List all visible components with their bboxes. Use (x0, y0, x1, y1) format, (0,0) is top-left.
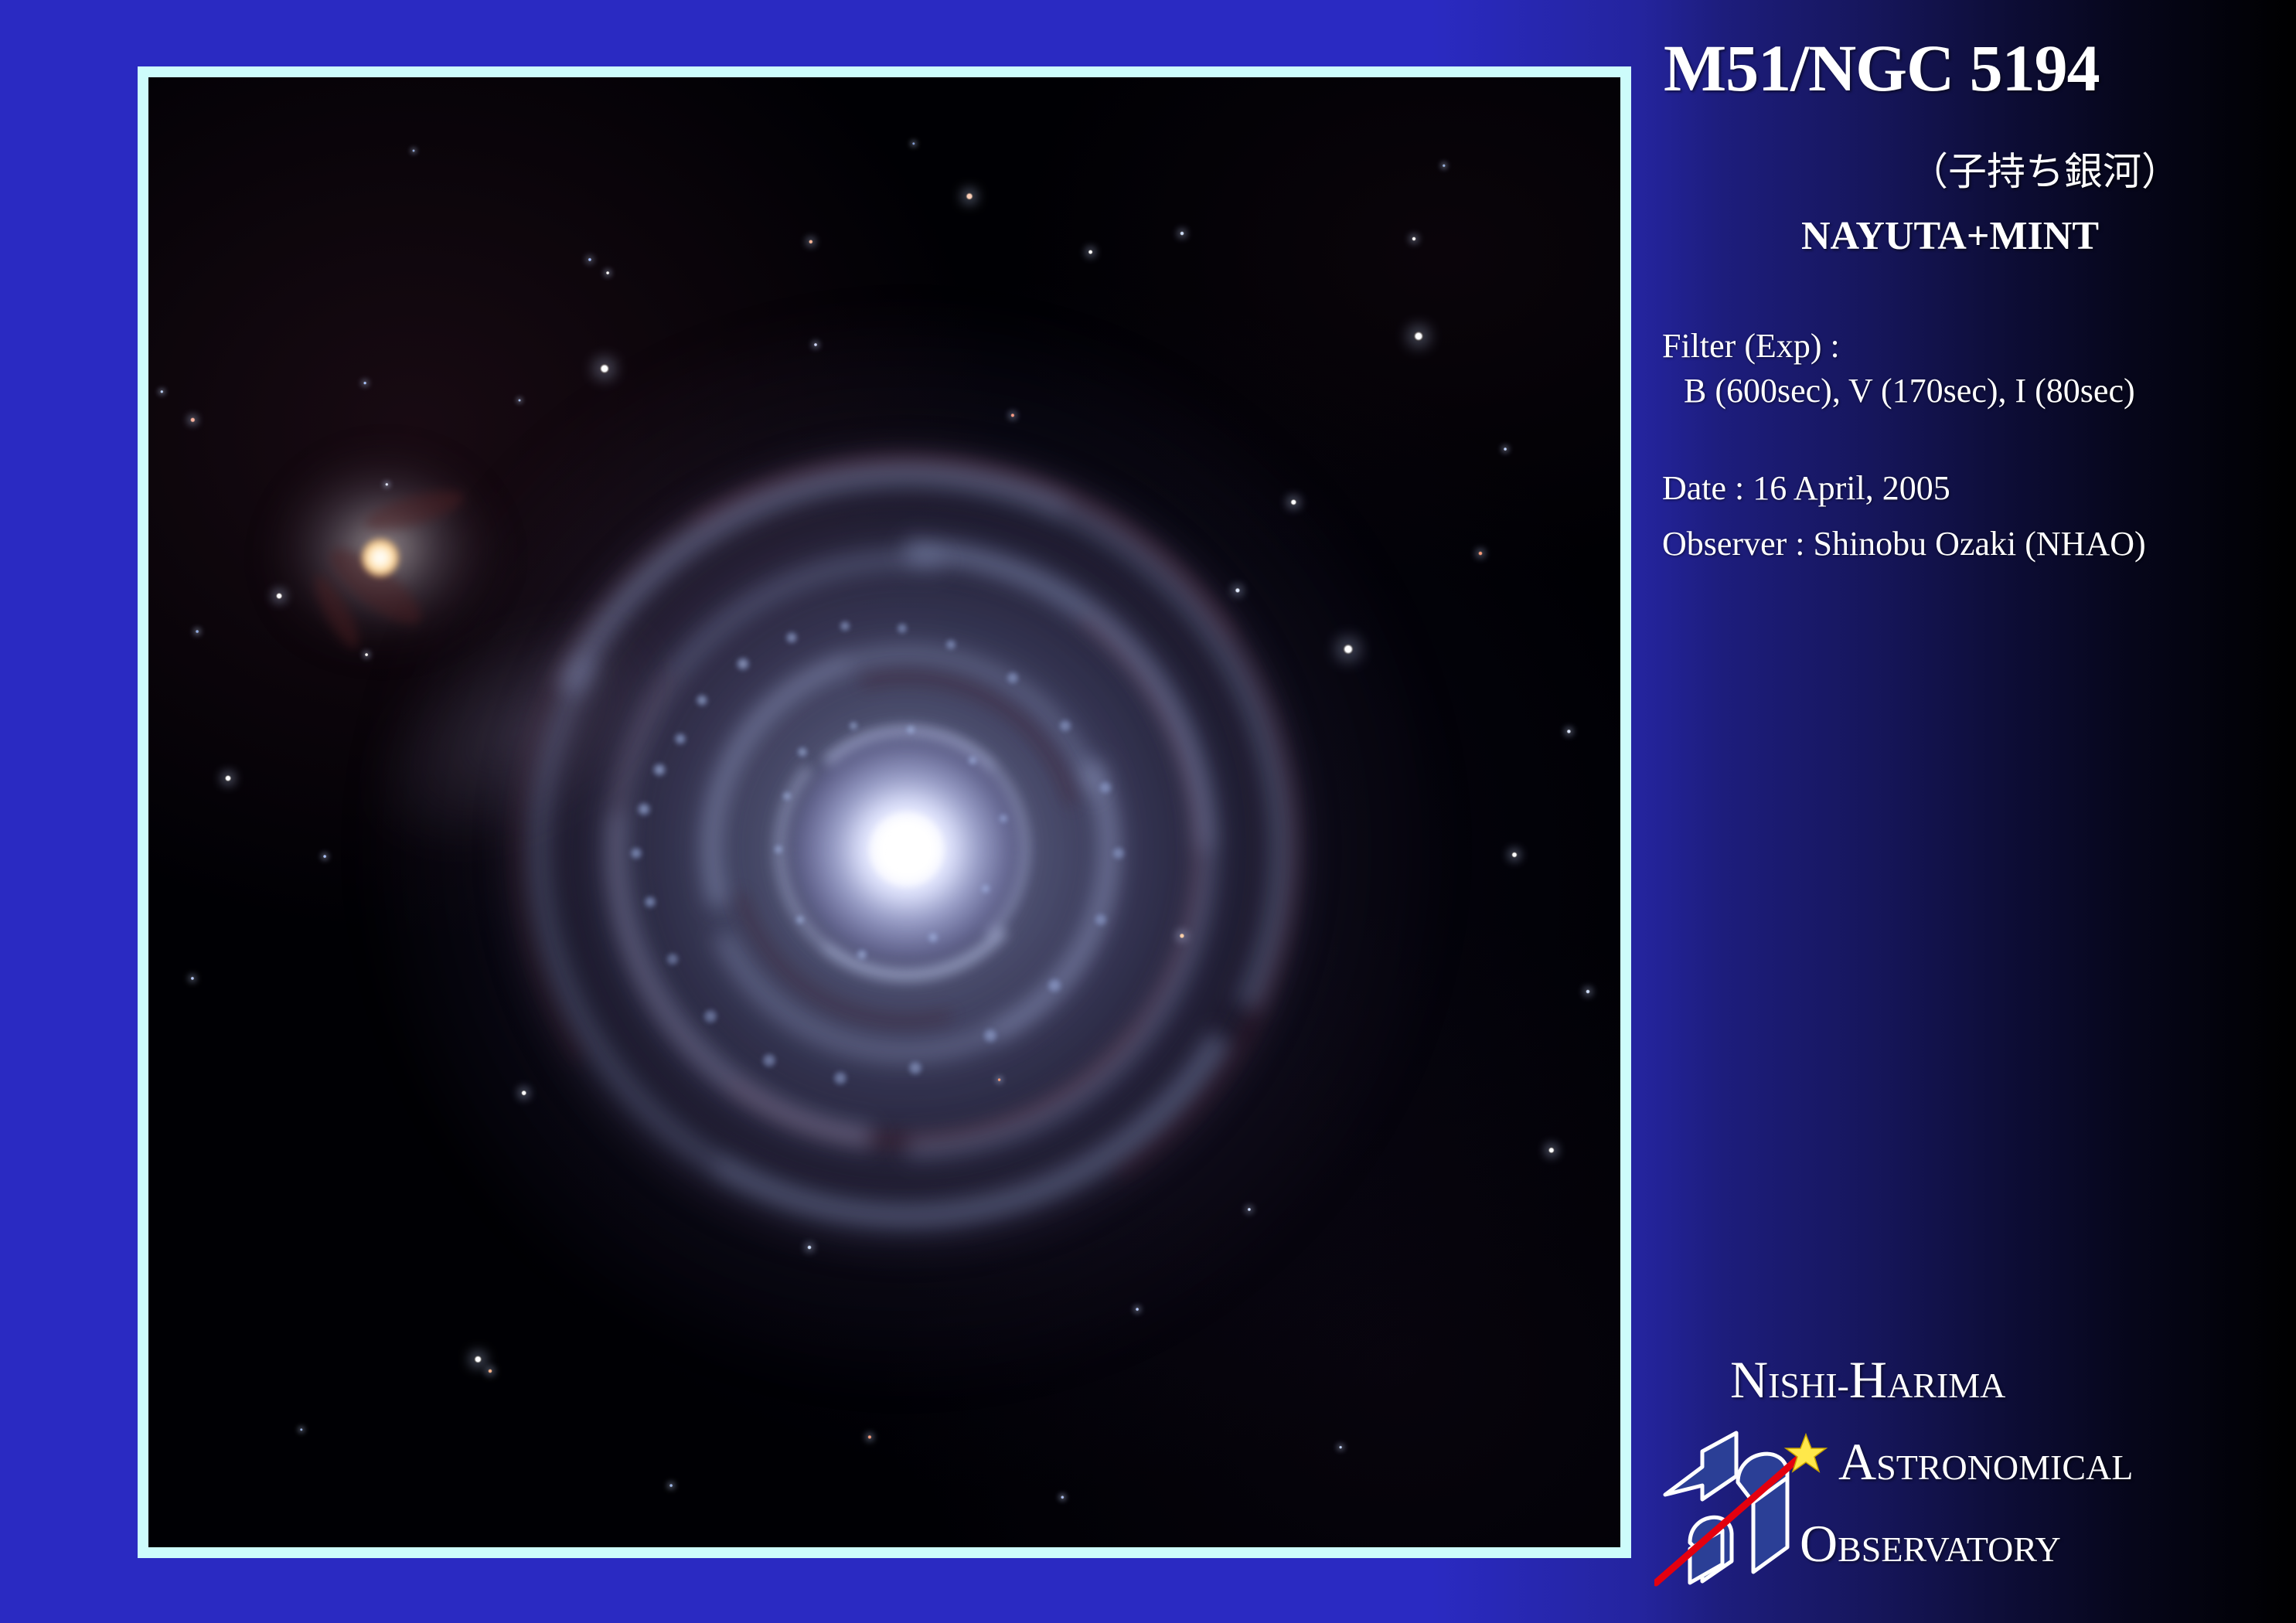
hii-region-knot (630, 847, 642, 859)
logo-line-2: ASTRONOMICAL (1838, 1431, 2133, 1492)
hii-region-knot (703, 1009, 717, 1023)
hii-region-knot (797, 747, 808, 757)
galaxy-nucleus-peak (869, 811, 944, 886)
field-star (1136, 1307, 1139, 1311)
field-star (521, 1090, 527, 1096)
hii-region-knot (736, 657, 750, 671)
field-star (669, 1484, 673, 1488)
hii-region-knot (696, 694, 708, 706)
hii-region-knot (795, 915, 805, 924)
info-panel: M51/NGC 5194 （子持ち銀河） NAYUTA+MINT Filter … (1654, 0, 2296, 1623)
field-star (276, 593, 283, 600)
field-star (813, 343, 817, 347)
logo-line-3-text: OBSERVATORY (1800, 1514, 2061, 1573)
field-star (1504, 447, 1507, 451)
hii-region-knot (849, 721, 858, 730)
observatory-logo: NISHI-HARIMA ASTRONOMICAL OBSERVATORY (1654, 1345, 2296, 1608)
field-star (1180, 231, 1184, 236)
field-star (364, 653, 368, 657)
field-star (412, 149, 415, 152)
logo-capital: N (1730, 1350, 1768, 1409)
hii-region-knot (782, 791, 792, 801)
hii-region-knot (945, 639, 956, 650)
field-star (195, 630, 199, 634)
logo-smallcaps: ARIMA (1887, 1366, 2005, 1405)
hii-region-knot (644, 896, 656, 908)
logo-line-2-text: ASTRONOMICAL (1838, 1432, 2133, 1491)
logo-line-3: OBSERVATORY (1800, 1513, 2061, 1574)
astro-image-frame (138, 66, 1631, 1558)
logo-smallcaps: ISHI- (1768, 1366, 1849, 1405)
date-line: Date : 16 April, 2005 (1662, 468, 1950, 508)
logo-capital: A (1838, 1432, 1876, 1491)
m51-spiral-galaxy (465, 408, 1347, 1290)
hii-region-knot (928, 932, 938, 943)
field-star (1478, 551, 1483, 556)
hii-region-knot (983, 1029, 997, 1043)
hii-region-knot (906, 725, 915, 734)
sky-canvas (148, 77, 1620, 1547)
field-star (606, 271, 610, 275)
field-star (224, 775, 231, 782)
hii-region-knot (1112, 847, 1125, 859)
hii-region-knot (833, 1071, 847, 1085)
hii-region-knot (908, 1061, 922, 1075)
hii-region-knot (840, 621, 850, 631)
logo-line-1-text: NISHI-HARIMA (1730, 1350, 2005, 1409)
field-star (488, 1369, 492, 1373)
instrument-name: NAYUTA+MINT (1801, 213, 2099, 259)
hii-region-knot (897, 623, 908, 634)
ngc5195-companion-galaxy (266, 445, 509, 680)
hii-region-knot (999, 814, 1008, 823)
hii-region-knot (1099, 781, 1112, 794)
filter-label: Filter (Exp) : (1662, 326, 1840, 366)
field-star (1414, 331, 1424, 341)
field-star (1511, 852, 1518, 858)
field-star (518, 399, 521, 402)
hii-region-knot (1007, 672, 1019, 684)
hii-region-knot (1059, 720, 1071, 732)
page-title: M51/NGC 5194 (1664, 29, 2100, 107)
field-star (966, 192, 973, 200)
hii-region-knot (652, 763, 666, 777)
hii-region-knot (981, 884, 990, 893)
hii-region-knot (968, 756, 977, 765)
field-star (600, 363, 610, 373)
hii-region-knot (785, 631, 798, 644)
field-star (1088, 250, 1093, 255)
field-star (1343, 644, 1354, 655)
logo-line-1: NISHI-HARIMA (1730, 1349, 2005, 1410)
field-star (363, 381, 366, 385)
hii-region-knot (674, 733, 686, 745)
hii-region-knot (1095, 914, 1107, 926)
field-star (1339, 1445, 1343, 1449)
field-star (997, 1078, 1001, 1082)
field-star (1586, 989, 1590, 994)
field-star (1412, 236, 1416, 241)
japanese-subtitle: （子持ち銀河） (1909, 141, 2180, 196)
hii-region-knot (857, 949, 867, 960)
logo-smallcaps: BSERVATORY (1838, 1529, 2061, 1569)
companion-nucleus (361, 538, 400, 578)
field-star (323, 855, 327, 859)
filter-value: B (600sec), V (170sec), I (80sec) (1684, 371, 2135, 410)
hii-region-knot (774, 845, 783, 854)
hii-region-knot (637, 802, 651, 816)
logo-capital: O (1800, 1514, 1838, 1573)
hii-region-knot (666, 953, 679, 965)
logo-capital: H (1849, 1350, 1887, 1409)
observer-line: Observer : Shinobu Ozaki (NHAO) (1662, 524, 2146, 563)
logo-smallcaps: STRONOMICAL (1876, 1448, 2133, 1487)
hii-region-knot (762, 1053, 776, 1067)
field-star (807, 1245, 812, 1250)
hii-region-knot (1048, 978, 1061, 992)
